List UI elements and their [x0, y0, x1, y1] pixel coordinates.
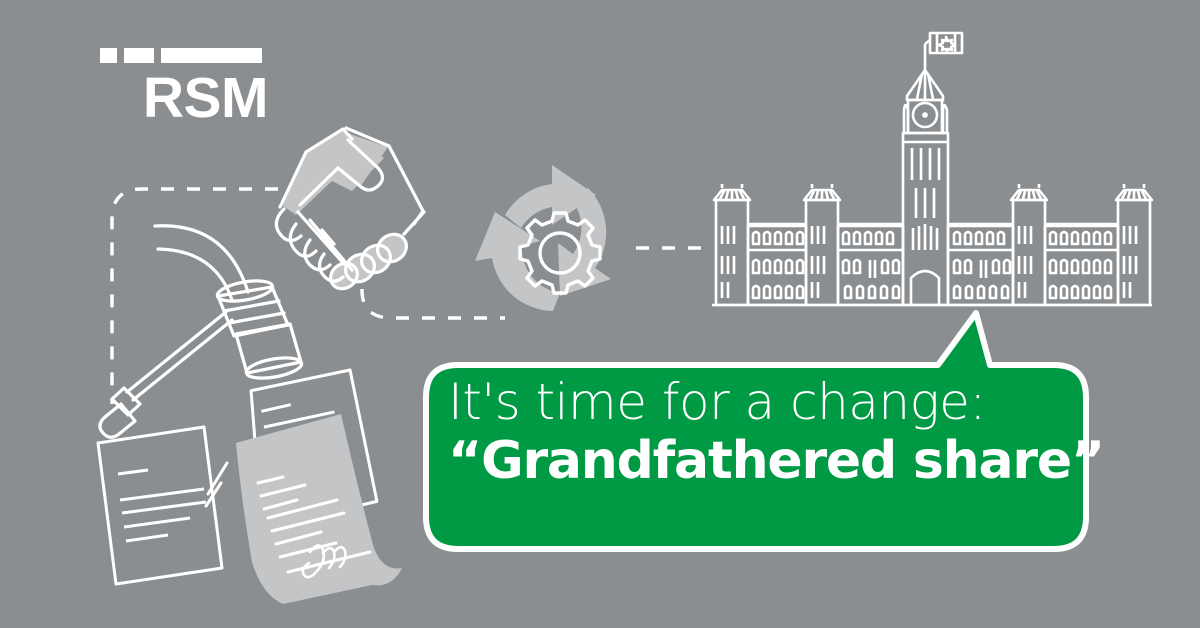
window-row [954, 232, 1111, 244]
gear-icon [520, 213, 600, 293]
speech-bubble-text: It's time for a change: “Grandfathered s… [448, 373, 1068, 491]
cycle-arrows-icon [475, 165, 611, 311]
signature-icon [303, 545, 346, 577]
gavel-icon [100, 226, 303, 437]
window-row [753, 232, 893, 244]
rsm-logo[interactable]: RSM [100, 48, 270, 128]
recycle-gear-icon [475, 165, 611, 311]
social-card: RSM It's time for a change: “Grandfather… [0, 0, 1200, 628]
signed-document-shape [236, 414, 402, 604]
handshake-icon [276, 128, 424, 294]
callout-line-2: “Grandfathered share” [448, 431, 1068, 491]
window-row [753, 286, 899, 298]
logo-dash-small [100, 48, 117, 63]
window-row [954, 286, 1111, 298]
parliament-building-icon [712, 33, 1152, 305]
canadian-flag-icon [925, 33, 962, 72]
logo-wordmark: RSM [100, 70, 270, 126]
logo-dash-medium [124, 48, 154, 63]
logo-dash-long [161, 48, 262, 63]
callout-line-1: It's time for a change: [448, 373, 1068, 431]
documents-icon [98, 369, 402, 604]
speech-bubble: It's time for a change: “Grandfathered s… [418, 305, 1094, 559]
window-row [753, 260, 899, 278]
logo-dashes [100, 48, 270, 63]
window-row [954, 260, 1111, 278]
